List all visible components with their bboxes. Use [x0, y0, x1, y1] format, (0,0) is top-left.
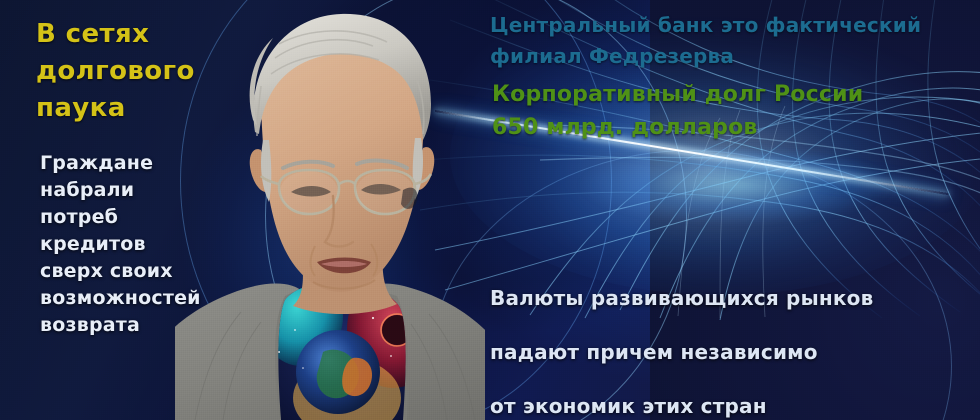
fx-note-line-2: падают причем независимо: [490, 339, 873, 366]
fx-note-line-1: Валюты развивающихся рынков: [490, 285, 873, 312]
corporate-debt-note-text: Корпоративный долг России 650 млрд. долл…: [492, 78, 863, 144]
headline-text: В сетях долгового паука: [36, 16, 195, 127]
emerging-markets-note-text: Валюты развивающихся рынков падают приче…: [490, 258, 873, 420]
image-canvas: В сетях долгового паука Граждане набрали…: [0, 0, 980, 420]
central-bank-note-text: Центральный банк это фактический филиал …: [490, 10, 921, 72]
left-body-text: Граждане набрали потреб кредитов сверх с…: [40, 150, 201, 339]
fx-note-line-3: от экономик этих стран: [490, 393, 873, 420]
